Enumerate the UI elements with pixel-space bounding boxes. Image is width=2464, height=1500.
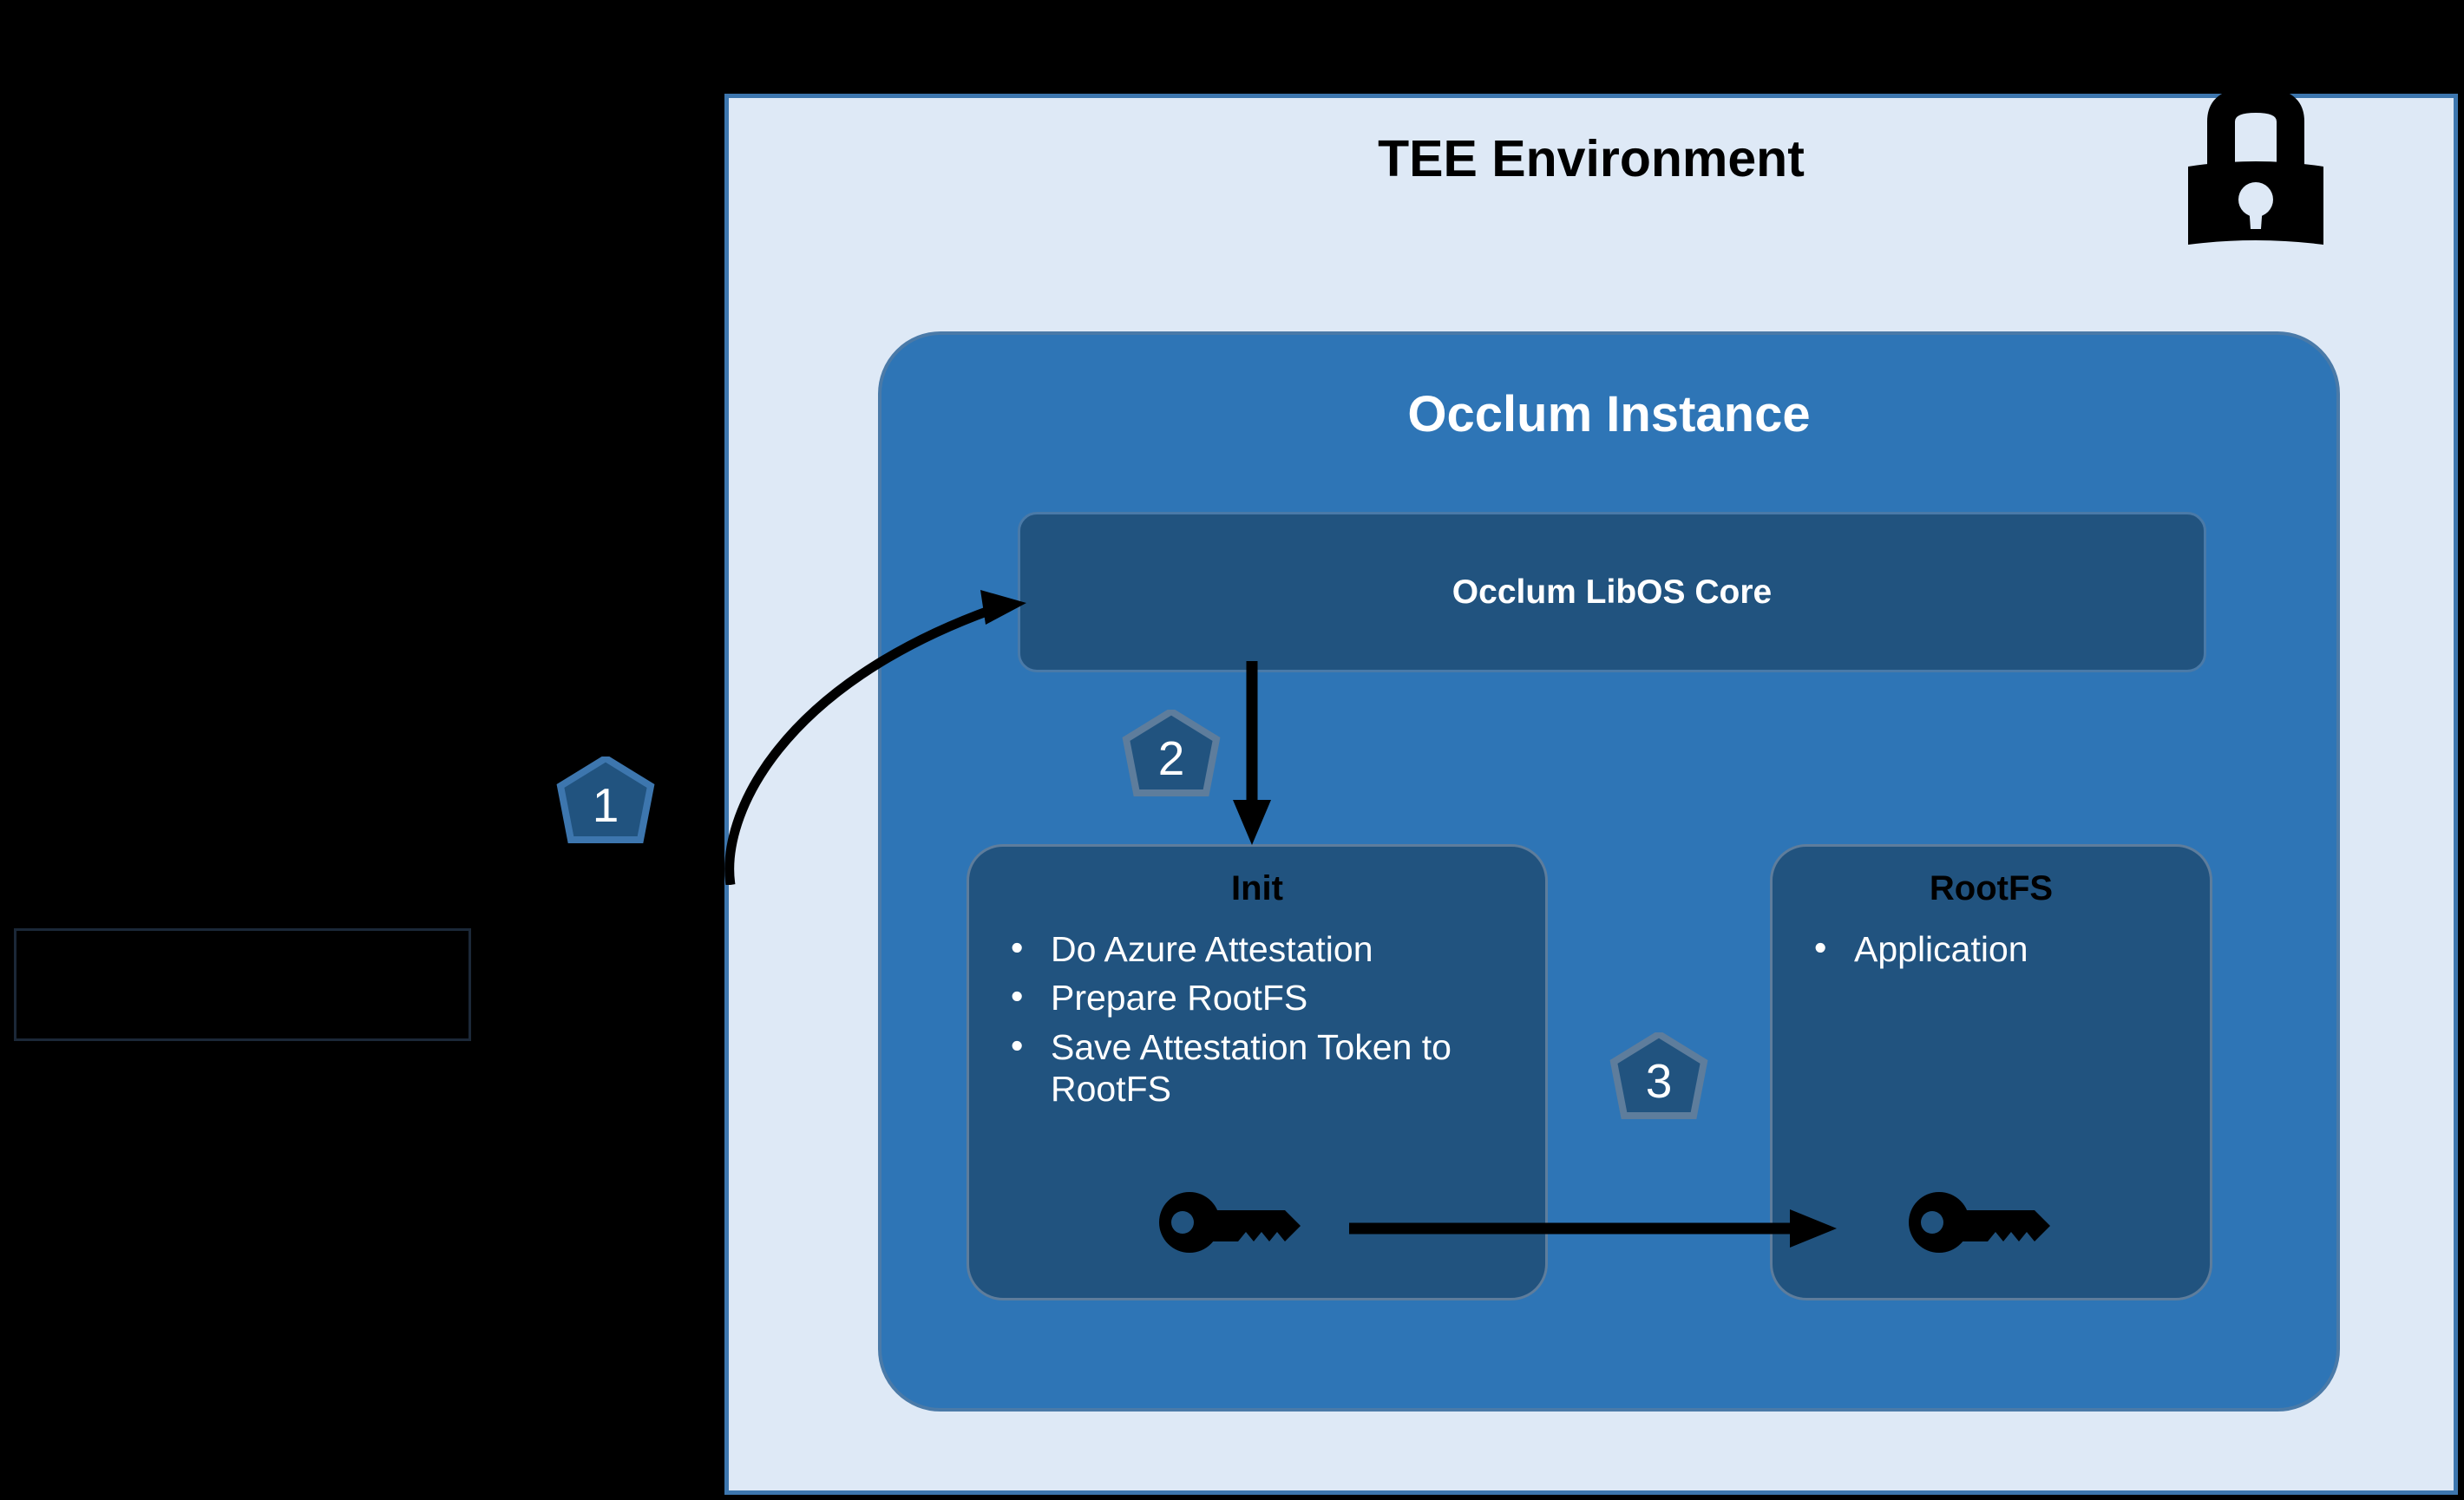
list-item: Prepare RootFS — [1000, 977, 1530, 1019]
init-title: Init — [969, 869, 1545, 908]
list-item: Application — [1804, 928, 2194, 970]
vertical-arrow-libos-to-init — [1219, 661, 1288, 848]
step-badge-1: 1 — [554, 757, 658, 854]
step-badge-1-number: 1 — [554, 757, 658, 854]
step-badge-2: 2 — [1119, 710, 1223, 807]
init-bullet-list: Do Azure Attestation Prepare RootFS Save… — [1000, 928, 1530, 1117]
list-item: Save Attestation Token to RootFS — [1000, 1026, 1530, 1110]
empty-rectangle — [14, 928, 471, 1041]
padlock-icon — [2169, 83, 2343, 257]
diagram-canvas: TEE Environment Occlum Instance Occlum L… — [0, 0, 2464, 1500]
curved-arrow-into-libos — [685, 555, 1050, 885]
list-item: Do Azure Attestation — [1000, 928, 1530, 970]
occlum-instance-title: Occlum Instance — [881, 387, 2336, 442]
key-icon — [1909, 1192, 2058, 1253]
step-badge-3: 3 — [1607, 1032, 1711, 1130]
key-icon — [1159, 1192, 1308, 1253]
occlum-libos-core-box: Occlum LibOS Core — [1018, 512, 2206, 672]
rootfs-bullet-list: Application — [1804, 928, 2194, 977]
occlum-libos-core-label: Occlum LibOS Core — [1452, 573, 1772, 612]
horizontal-arrow-init-to-rootfs — [1349, 1197, 1844, 1267]
step-badge-3-number: 3 — [1607, 1032, 1711, 1130]
rootfs-title: RootFS — [1773, 869, 2210, 908]
step-badge-2-number: 2 — [1119, 710, 1223, 807]
